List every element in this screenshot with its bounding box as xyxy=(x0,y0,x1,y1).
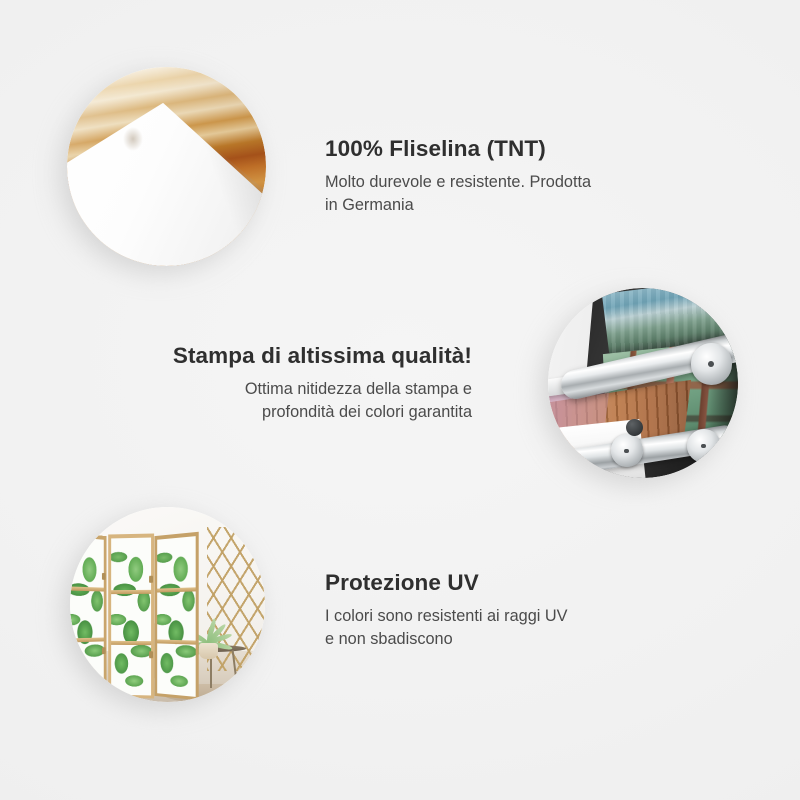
screen-hinge-icon xyxy=(102,574,106,581)
screen-hinge-icon xyxy=(102,647,106,654)
room-divider-photo-inner xyxy=(70,507,265,702)
wallpaper-peeled-corner-photo xyxy=(67,67,266,266)
monstera-leaf-pattern xyxy=(70,536,104,696)
feature-title-fliselina: 100% Fliselina (TNT) xyxy=(325,136,685,162)
feature-block-protezione-uv: Protezione UV I colori sono resistenti a… xyxy=(325,570,685,652)
feature-title-stampa: Stampa di altissima qualità! xyxy=(112,343,472,369)
feature-description-line-2: in Germania xyxy=(325,196,414,214)
feature-description-line-1: Ottima nitidezza della stampa e xyxy=(245,380,472,398)
feature-block-fliselina: 100% Fliselina (TNT) Molto durevole e re… xyxy=(325,136,685,218)
feature-description-stampa: Ottima nitidezza della stampa e profondi… xyxy=(112,378,472,425)
press-roller-endcap-left xyxy=(611,434,643,466)
press-bolt-icon xyxy=(708,361,714,367)
feature-description-line-2: profondità dei colori garantita xyxy=(262,403,472,421)
monstera-leaf-pattern xyxy=(111,538,150,696)
feature-title-protezione-uv: Protezione UV xyxy=(325,570,685,596)
feature-description-line-1: I colori sono resistenti ai raggi UV xyxy=(325,607,568,625)
wallpaper-fold-crease xyxy=(123,127,143,151)
press-roller-endcap-lower xyxy=(687,429,721,463)
plant-pot xyxy=(199,643,218,659)
feature-description-fliselina: Molto durevole e resistente. Prodotta in… xyxy=(325,171,685,218)
screen-hinge-icon xyxy=(148,576,152,583)
feature-description-line-1: Molto durevole e resistente. Prodotta xyxy=(325,173,591,191)
screen-hinge-icon xyxy=(148,651,152,658)
screen-panel xyxy=(70,532,106,700)
screen-panel xyxy=(155,532,199,700)
press-roller-endcap-upper xyxy=(691,343,733,385)
tropical-room-divider-photo xyxy=(70,507,265,702)
wallpaper-photo-inner xyxy=(67,67,266,266)
monstera-leaf-pattern xyxy=(157,536,195,696)
printing-press-photo xyxy=(548,288,738,478)
feature-description-line-2: e non sbadiscono xyxy=(325,630,453,648)
printing-press-photo-inner xyxy=(548,288,738,478)
feature-description-protezione-uv: I colori sono resistenti ai raggi UV e n… xyxy=(325,605,685,652)
press-adjustment-knob xyxy=(626,419,643,436)
infographic-stage: 100% Fliselina (TNT) Molto durevole e re… xyxy=(0,0,800,800)
press-bolt-icon xyxy=(624,449,629,454)
press-bolt-icon xyxy=(701,444,706,449)
tropical-folding-screen xyxy=(70,534,199,698)
screen-crossbar xyxy=(111,590,150,594)
screen-panel xyxy=(108,534,153,699)
screen-crossbar xyxy=(111,642,150,646)
feature-block-stampa: Stampa di altissima qualità! Ottima niti… xyxy=(112,343,472,425)
